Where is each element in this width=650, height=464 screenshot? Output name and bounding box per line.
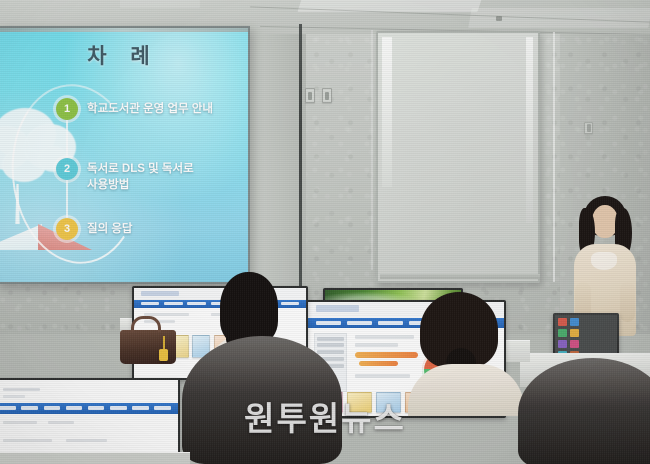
nav-item[interactable]: [110, 406, 127, 410]
outlet-plate[interactable]: [322, 88, 332, 103]
nav-item[interactable]: [347, 321, 373, 324]
whiteboard-glare: [526, 37, 533, 223]
desktop-icon[interactable]: [558, 329, 567, 337]
desk-front-left: [0, 452, 190, 464]
projection-screen: 차 례 1 학교도서관 운영 업무 안내 2: [0, 26, 250, 284]
nav-item[interactable]: [132, 406, 149, 410]
laptop-desktop-screen: [555, 315, 617, 353]
agenda-item-1: 1 학교도서관 운영 업무 안내: [56, 98, 236, 120]
agenda-label-1: 학교도서관 운영 업무 안내: [87, 98, 213, 117]
content-line: [355, 335, 414, 339]
charm-strap: [163, 336, 165, 350]
monitor-front-left-screen: [0, 380, 178, 462]
audience-shoulders: [408, 364, 524, 416]
content-line: [355, 374, 410, 378]
outlet-slot-icon: [587, 124, 591, 132]
site-logo[interactable]: [316, 305, 359, 312]
content-line: [355, 343, 398, 347]
screen-top-bar: [0, 28, 248, 32]
agenda-number-3: 3: [56, 218, 78, 240]
nav-item[interactable]: [316, 321, 342, 324]
presenter-collar: [591, 252, 617, 270]
switch-toggle-icon: [308, 92, 312, 100]
photo-scene: 차 례 1 학교도서관 운영 업무 안내 2: [0, 0, 650, 464]
book-cover[interactable]: [376, 392, 401, 413]
highlight-banner: [359, 361, 398, 366]
ceiling-light-panel: [120, 0, 200, 8]
wall-seam-highlight: [371, 30, 373, 270]
nav-item[interactable]: [378, 321, 404, 324]
agenda-item-2: 2 독서로 DLS 및 독서로 사용방법: [56, 158, 242, 194]
desktop-icon[interactable]: [558, 318, 567, 326]
content-line: [3, 439, 51, 442]
outlet-plate-right[interactable]: [584, 122, 593, 134]
presentation-slide: 차 례 1 학교도서관 운영 업무 안내 2: [0, 28, 248, 282]
desktop-icon-grid[interactable]: [558, 318, 579, 355]
wall-seam-highlight: [553, 32, 555, 282]
whiteboard-glare: [382, 37, 392, 187]
content-line: [3, 421, 36, 424]
site-logo[interactable]: [141, 291, 179, 296]
desktop-icon[interactable]: [570, 329, 579, 337]
nav-item[interactable]: [0, 406, 16, 410]
library-portal-page: [0, 380, 178, 462]
nav-item[interactable]: [141, 302, 160, 305]
nav-item[interactable]: [154, 406, 171, 410]
audience-member-right-front: [518, 358, 650, 464]
audience-hair: [182, 336, 342, 464]
content-line: [3, 395, 25, 398]
presenter-laptop[interactable]: [553, 313, 619, 355]
presenter-arm-right: [620, 282, 635, 322]
agenda-number-2: 2: [56, 158, 78, 180]
nav-item[interactable]: [44, 406, 61, 410]
agenda-item-3: 3 질의 응답: [56, 218, 216, 240]
switch-plate[interactable]: [305, 88, 315, 103]
primary-nav[interactable]: [0, 403, 178, 414]
content-line: [48, 421, 74, 424]
whiteboard-marker-tray: [380, 274, 540, 279]
slide-title: 차 례: [0, 40, 248, 70]
agenda-label-3: 질의 응답: [87, 218, 133, 237]
whiteboard: [376, 31, 540, 283]
outlet-slot-icon: [325, 92, 329, 100]
audience-member-left-front: [182, 336, 342, 464]
content-line: [3, 388, 40, 391]
nav-item[interactable]: [21, 406, 38, 410]
nav-item[interactable]: [164, 302, 183, 305]
desktop-icon[interactable]: [570, 318, 579, 326]
gold-keychain-charm: [159, 349, 168, 361]
nav-item[interactable]: [66, 406, 83, 410]
agenda-number-1: 1: [56, 98, 78, 120]
desktop-icon[interactable]: [570, 340, 579, 348]
book-cover[interactable]: [347, 392, 372, 413]
wall-seam: [299, 24, 302, 289]
ceiling-vent: [496, 16, 502, 21]
handbag-handle: [131, 316, 161, 332]
audience-hair: [518, 358, 650, 464]
content-line: [66, 439, 107, 442]
nav-item[interactable]: [187, 302, 206, 305]
agenda-label-2: 독서로 DLS 및 독서로 사용방법: [87, 158, 194, 194]
audience-member-center: [408, 292, 524, 412]
nav-item[interactable]: [88, 406, 105, 410]
desktop-icon[interactable]: [558, 340, 567, 348]
